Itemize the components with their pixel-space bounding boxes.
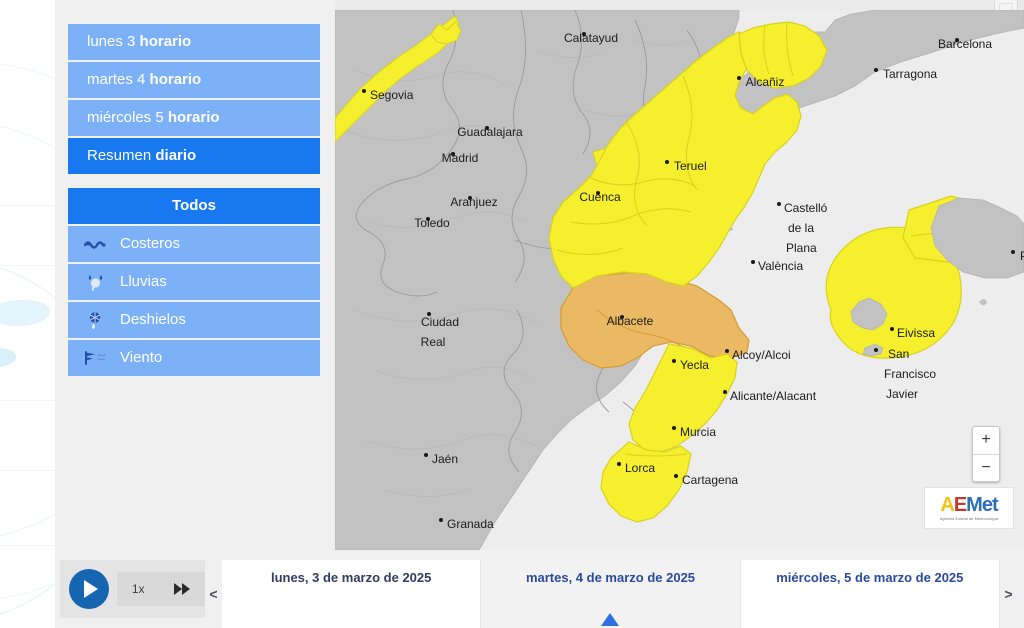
background-line	[0, 265, 58, 266]
city-label-barcelona: Barcelona	[938, 37, 992, 51]
wind-icon	[82, 340, 110, 376]
play-button[interactable]	[69, 569, 109, 609]
aemet-logo: AEMet Agencia Estatal de Meteorología	[924, 487, 1014, 529]
animation-player: 1x	[60, 560, 205, 618]
menu-item-viento[interactable]: Viento	[68, 340, 320, 376]
city-label-segovia: Segovia	[370, 88, 414, 102]
aemet-wordmark: AEMet	[940, 495, 997, 515]
menu-item-lunes-3-horario[interactable]: lunes 3 horario	[68, 24, 320, 60]
city-label-calatayud: Calatayud	[564, 31, 618, 45]
fast-forward-icon[interactable]	[174, 583, 190, 595]
day-selector-group: lunes 3 horario martes 4 horario miércol…	[68, 24, 320, 176]
city-label-sfj-2: Francisco	[884, 367, 936, 381]
day-cell-martes[interactable]: martes, 4 de marzo de 2025	[481, 560, 740, 628]
rain-icon	[82, 264, 110, 300]
menu-item-lead: lunes 3	[87, 33, 140, 50]
menu-item-lead: miércoles 5	[87, 109, 168, 126]
background-line	[0, 545, 56, 546]
menu-item-label: Costeros	[120, 235, 180, 252]
city-label-ciudadreal-1: Ciudad	[421, 315, 459, 329]
prev-day-arrow[interactable]: <	[205, 560, 222, 628]
city-label-lorca: Lorca	[625, 461, 655, 475]
waves-icon	[82, 226, 110, 262]
city-label-jaen: Jaén	[432, 452, 458, 466]
city-label-palma: Palma	[1020, 249, 1024, 263]
day-cell-lunes[interactable]: lunes, 3 de marzo de 2025	[222, 560, 481, 628]
menu-item-emph: horario	[150, 71, 202, 88]
menu-item-lluvias[interactable]: Lluvias	[68, 264, 320, 300]
menu-item-todos[interactable]: Todos	[68, 188, 320, 224]
background-line	[0, 400, 56, 401]
menu-item-resumen-diario[interactable]: Resumen diario	[68, 138, 320, 174]
city-label-granada: Granada	[447, 517, 494, 531]
menu-item-lead: Resumen	[87, 147, 155, 164]
menu-item-emph: horario	[168, 109, 220, 126]
zoom-out-button[interactable]: −	[973, 455, 999, 482]
city-label-castello-1: Castelló	[784, 201, 828, 215]
city-label-murcia: Murcia	[680, 425, 716, 439]
islet-columbretes	[729, 227, 732, 230]
map-canvas[interactable]: Calatayud Barcelona Alcañiz Tarragona Se…	[335, 10, 1024, 550]
background-line	[0, 470, 56, 471]
day-label: lunes, 3 de marzo de 2025	[271, 570, 431, 628]
city-label-aranjuez: Aranjuez	[450, 195, 497, 209]
logo-letter-a: A	[940, 494, 953, 516]
city-label-eivissa: Eivissa	[897, 326, 935, 340]
next-day-arrow[interactable]: >	[1000, 560, 1017, 628]
aemet-subtitle: Agencia Estatal de Meteorología	[940, 517, 998, 521]
menu-item-emph: diario	[155, 147, 196, 164]
background-line	[0, 205, 60, 206]
city-label-toledo: Toledo	[414, 216, 450, 230]
city-label-alcaniz: Alcañiz	[746, 75, 785, 89]
warnings-map[interactable]: Calatayud Barcelona Alcañiz Tarragona Se…	[335, 10, 1024, 550]
day-track: < lunes, 3 de marzo de 2025 martes, 4 de…	[205, 560, 1017, 628]
zoom-in-button[interactable]: +	[973, 427, 999, 455]
current-day-caret	[601, 613, 619, 626]
menu-item-costeros[interactable]: Costeros	[68, 226, 320, 262]
menu-item-miercoles-5-horario[interactable]: miércoles 5 horario	[68, 100, 320, 136]
menu-item-label: Viento	[120, 349, 162, 366]
aemet-warnings-app: lunes 3 horario martes 4 horario miércol…	[55, 0, 1024, 628]
city-label-castello-2: de la	[788, 221, 814, 235]
speed-control[interactable]: 1x	[117, 572, 205, 606]
city-label-guadalajara: Guadalajara	[457, 125, 523, 139]
menu-item-deshielos[interactable]: Deshielos	[68, 302, 320, 338]
city-label-teruel: Teruel	[674, 159, 707, 173]
city-label-yecla: Yecla	[680, 358, 709, 372]
menu-item-label: Todos	[172, 197, 216, 214]
city-label-cuenca: Cuenca	[579, 190, 621, 204]
day-label: miércoles, 5 de marzo de 2025	[776, 570, 963, 628]
day-cell-miercoles[interactable]: miércoles, 5 de marzo de 2025	[741, 560, 1000, 628]
city-label-alicante: Alicante/Alacant	[730, 389, 817, 403]
logo-letter-e: E	[954, 494, 966, 516]
control-column: lunes 3 horario martes 4 horario miércol…	[55, 0, 335, 550]
city-label-sfj-3: Javier	[886, 387, 918, 401]
city-label-madrid: Madrid	[442, 151, 479, 165]
city-label-tarragona: Tarragona	[883, 67, 937, 81]
thaw-icon	[82, 302, 110, 338]
city-label-cartagena: Cartagena	[682, 473, 738, 487]
timeline-bar: 1x < lunes, 3 de marzo de 2025 martes, 4…	[55, 550, 1024, 628]
city-label-ciudadreal-2: Real	[421, 335, 446, 349]
menu-item-lead: martes 4	[87, 71, 150, 88]
menu-item-label: Deshielos	[120, 311, 186, 328]
city-label-castello-3: Plana	[786, 241, 817, 255]
warning-type-group: Todos Costeros	[68, 188, 320, 378]
zoom-controls[interactable]: + −	[972, 426, 1000, 482]
menu-item-martes-4-horario[interactable]: martes 4 horario	[68, 62, 320, 98]
menu-item-label: Lluvias	[120, 273, 167, 290]
city-label-albacete: Albacete	[607, 314, 654, 328]
menu-item-emph: horario	[140, 33, 192, 50]
speed-label: 1x	[132, 582, 145, 596]
city-label-sfj-1: San	[888, 347, 909, 361]
logo-letters-met: Met	[966, 494, 997, 516]
play-icon	[84, 580, 98, 598]
city-label-alcoy: Alcoy/Alcoi	[732, 348, 791, 362]
city-label-valencia: València	[758, 259, 803, 273]
